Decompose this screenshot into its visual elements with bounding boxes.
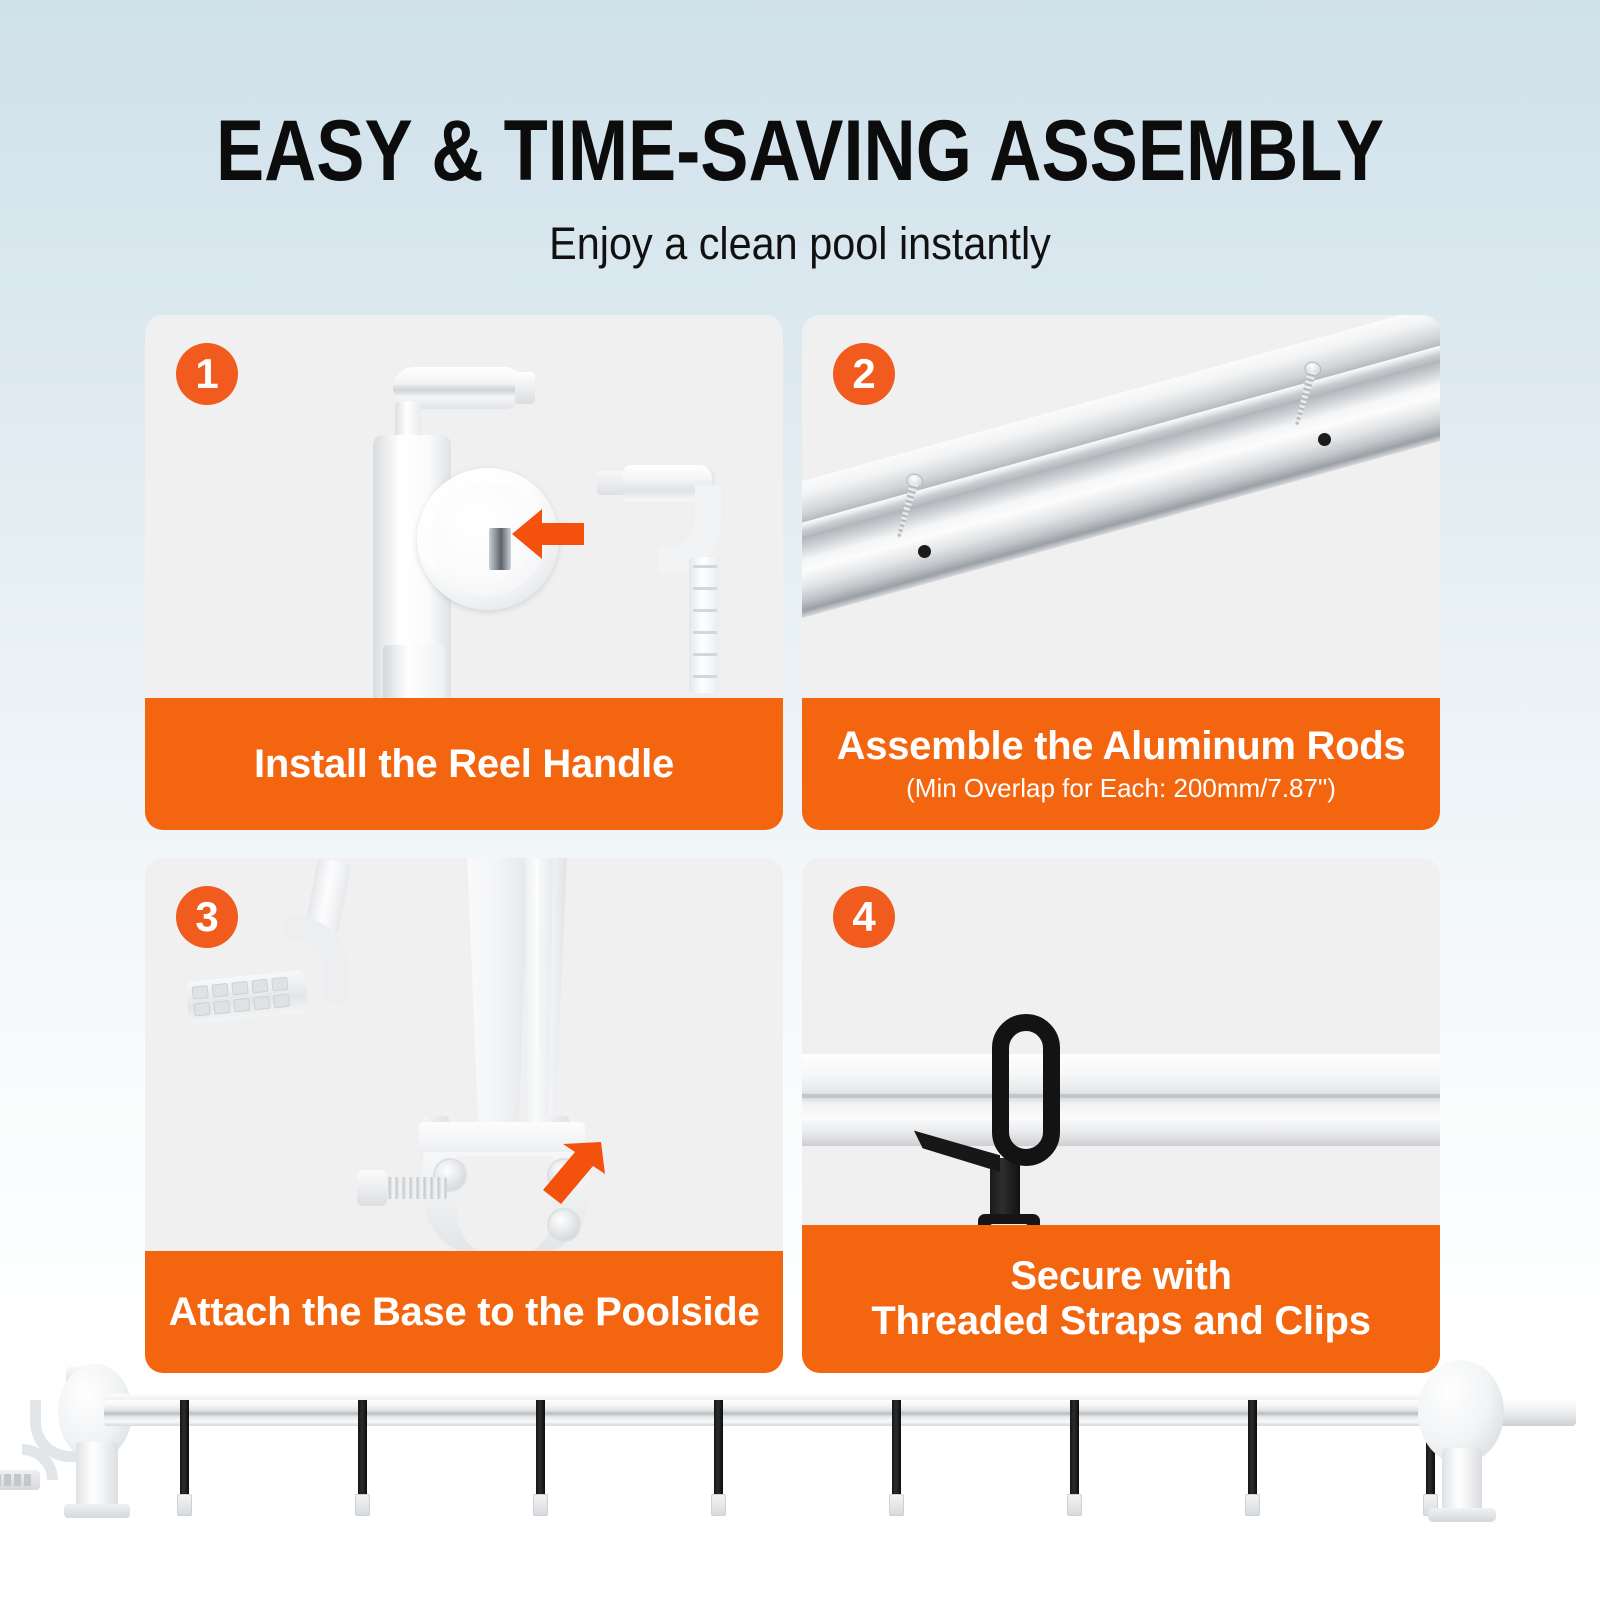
reel-rod — [802, 1054, 1440, 1146]
step-badge-1: 1 — [176, 343, 238, 405]
crank-grip — [0, 1470, 40, 1490]
step-card-2: 2 Assemble the Aluminum Rods (Min Overla… — [802, 315, 1440, 830]
bolt-thread — [385, 1177, 447, 1199]
steps-grid: 1 Install the Reel Handle 2 As — [145, 315, 1440, 1387]
product-strap-clip — [1245, 1494, 1260, 1516]
step-caption-4-line2: Threaded Straps and Clips — [871, 1299, 1370, 1344]
support-leg — [463, 858, 583, 1148]
aluminum-tube — [802, 315, 1440, 633]
strap-loop-band — [992, 1014, 1060, 1166]
step-caption-3-text: Attach the Base to the Poolside — [169, 1290, 760, 1335]
right-base-foot — [1428, 1508, 1496, 1522]
product-strap — [1248, 1400, 1257, 1498]
product-strap — [180, 1400, 189, 1498]
step-card-3: 3 Attach the Base to the Poolside — [145, 858, 783, 1373]
step-card-4: 4 Secure with Threaded Straps and Clips — [802, 858, 1440, 1373]
step-caption-1: Install the Reel Handle — [145, 698, 783, 830]
step-caption-4-line1: Secure with — [1010, 1254, 1231, 1299]
aluminum-rod — [104, 1400, 1486, 1426]
product-strap-clip — [533, 1494, 548, 1516]
product-strap-clip — [1067, 1494, 1082, 1516]
reel-socket-slot — [489, 528, 511, 570]
strap-loop — [992, 1014, 1060, 1186]
bolt-nut — [357, 1170, 387, 1206]
header: EASY & TIME-SAVING ASSEMBLY Enjoy a clea… — [0, 0, 1600, 270]
product-strap — [714, 1400, 723, 1498]
page-subtitle: Enjoy a clean pool instantly — [64, 218, 1536, 270]
step-caption-2-text: Assemble the Aluminum Rods — [837, 724, 1406, 769]
arrow-up-right-icon — [541, 1140, 609, 1206]
crank-rib-lines — [693, 565, 717, 689]
clamp-hole-3 — [547, 1208, 581, 1242]
drill-hole-left — [918, 545, 931, 558]
left-base-foot — [64, 1504, 130, 1518]
product-strap-clip — [889, 1494, 904, 1516]
clamp-bolt — [357, 1168, 449, 1208]
product-hero-image — [0, 1356, 1600, 1600]
drill-hole-right — [1318, 433, 1331, 446]
left-base-stand — [76, 1442, 118, 1512]
arrow-left-icon — [512, 507, 584, 561]
product-strap-clip — [355, 1494, 370, 1516]
step-badge-4: 4 — [833, 886, 895, 948]
page-title: EASY & TIME-SAVING ASSEMBLY — [128, 108, 1472, 194]
handle-grip — [185, 970, 309, 1024]
step-caption-3: Attach the Base to the Poolside — [145, 1251, 783, 1373]
step-caption-4: Secure with Threaded Straps and Clips — [802, 1225, 1440, 1373]
step-badge-3: 3 — [176, 886, 238, 948]
product-strap — [1070, 1400, 1079, 1498]
step-card-1: 1 Install the Reel Handle — [145, 315, 783, 830]
product-strap-clip — [177, 1494, 192, 1516]
step-badge-2: 2 — [833, 343, 895, 405]
step-caption-2: Assemble the Aluminum Rods (Min Overlap … — [802, 698, 1440, 830]
product-strap — [892, 1400, 901, 1498]
product-strap-clip — [711, 1494, 726, 1516]
rod-seam-line — [802, 1094, 1440, 1098]
right-base-stand — [1442, 1448, 1482, 1514]
clamp-opening — [457, 1156, 553, 1260]
step-caption-2-subtext: (Min Overlap for Each: 200mm/7.87") — [906, 773, 1336, 804]
leg-face — [463, 858, 529, 1140]
step-caption-1-text: Install the Reel Handle — [254, 742, 674, 787]
crank-handle-part — [597, 465, 727, 695]
product-strap — [536, 1400, 545, 1498]
product-strap — [358, 1400, 367, 1498]
